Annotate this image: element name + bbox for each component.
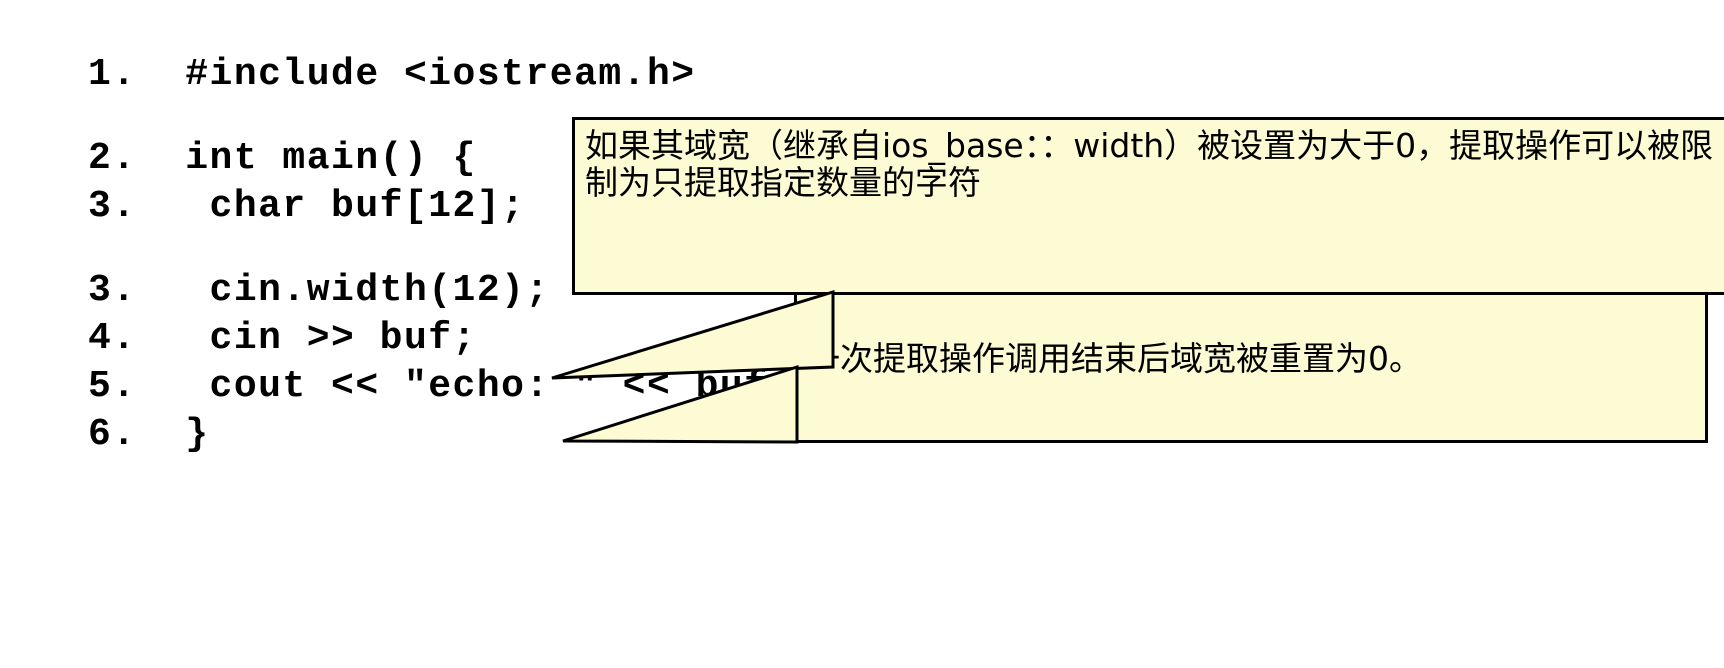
code-line: 1. #include <iostream.h> [88,56,1088,94]
callout-width-limit-text: 如果其域宽（继承自ios_base：：width）被设置为大于0，提取操作可以被… [585,128,1724,202]
callout-width-limit: 如果其域宽（继承自ios_base：：width）被设置为大于0，提取操作可以被… [572,117,1724,295]
callout-width-reset-text: 一次提取操作调用结束后域宽被重置为0。 [807,341,1701,378]
callout-width-reset: 一次提取操作调用结束后域宽被重置为0。 [794,292,1708,443]
slide-canvas: 1. #include <iostream.h> 2. int main() {… [0,0,1724,668]
